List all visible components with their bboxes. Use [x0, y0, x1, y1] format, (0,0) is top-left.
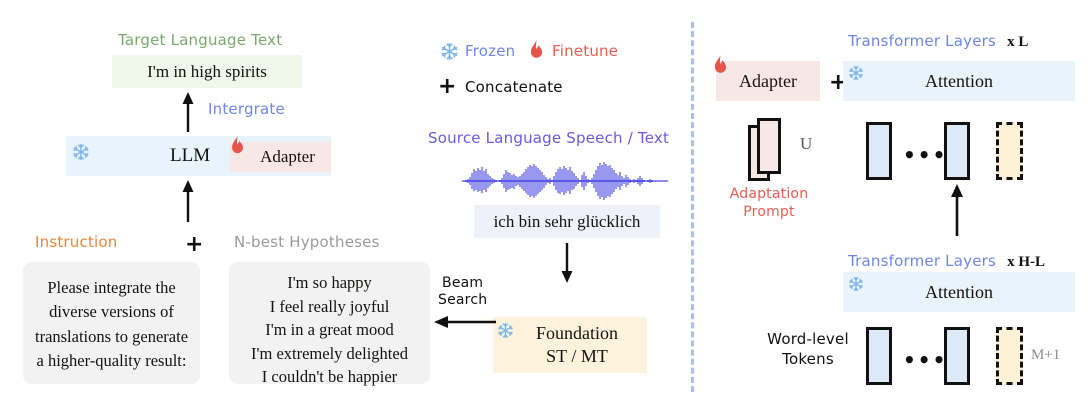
arrow-llm-to-target: [178, 92, 198, 132]
token-lower-prompt: [996, 327, 1023, 385]
target-text-box: I'm in high spirits: [112, 55, 302, 88]
instruction-line: Please integrate the: [23, 276, 200, 300]
transformer-layers-bottom-multiplier: x H-L: [1007, 254, 1045, 270]
token-lower-2: [944, 327, 970, 385]
transformer-layers-bottom-text: Transformer Layers: [848, 252, 996, 270]
token-upper-prompt: [996, 122, 1023, 180]
instruction-box: Please integrate the diverse versions of…: [23, 262, 200, 384]
legend-concatenate-label: Concatenate: [465, 78, 563, 96]
legend-frozen-label: Frozen: [465, 42, 515, 60]
snowflake-icon: [848, 65, 864, 81]
attention-label-top: Attention: [843, 61, 1075, 101]
token-lower-ellipsis: •••: [903, 350, 947, 370]
legend-finetune-label: Finetune: [552, 42, 618, 60]
word-level-tokens-label: Word-level Tokens: [758, 330, 858, 369]
instruction-label: Instruction: [35, 233, 117, 251]
speech-waveform: [462, 160, 670, 202]
legend-plus-icon: +: [438, 76, 456, 98]
token-upper-ellipsis: •••: [903, 145, 947, 165]
adapter-box-right: Adapter: [716, 61, 820, 101]
word-level-tokens-line1: Word-level: [758, 330, 858, 350]
instruction-line: diverse versions of: [23, 300, 200, 324]
attention-box-top: Attention: [843, 61, 1075, 101]
nbest-line: I'm extremely delighted: [229, 342, 430, 366]
snowflake-icon: [848, 276, 864, 292]
m-plus-one-label: M+1: [1031, 347, 1060, 364]
attention-label-bottom: Attention: [843, 272, 1075, 312]
arrow-foundation-to-nbest: [434, 312, 496, 332]
nbest-line: I couldn't be happier: [229, 365, 430, 389]
foundation-label-line2: ST / MT: [507, 345, 647, 368]
transformer-layers-top-multiplier: x L: [1007, 34, 1028, 50]
arrow-tokens-up: [947, 184, 967, 236]
instruction-line: a higher-quality result:: [23, 349, 200, 373]
panel-divider: [691, 22, 694, 392]
transformer-layers-top-label: Transformer Layers x L: [848, 31, 1028, 51]
source-text-value: ich bin sehr glücklich: [494, 212, 641, 232]
integrate-label: Intergrate: [208, 100, 285, 118]
plus-sign-left: +: [185, 234, 203, 256]
beam-search-label: Beam Search: [438, 275, 487, 309]
adaptation-prompt-label: Adaptation Prompt: [723, 186, 815, 221]
token-lower-1: [866, 327, 892, 385]
flame-icon: [712, 55, 729, 76]
transformer-layers-bottom-label: Transformer Layers x H-L: [848, 251, 1045, 271]
token-upper-2: [944, 122, 970, 180]
target-language-text-label: Target Language Text: [118, 31, 282, 49]
target-text-value: I'm in high spirits: [147, 62, 267, 82]
adaptation-prompt-line2: Prompt: [723, 204, 815, 222]
adapter-label-left: Adapter: [246, 147, 315, 167]
foundation-label-line1: Foundation: [507, 322, 647, 345]
nbest-hypotheses-box: I'm so happy I feel really joyful I'm in…: [229, 262, 430, 384]
nbest-line: I'm so happy: [229, 271, 430, 295]
snowflake-icon: [497, 322, 514, 339]
flame-icon: [528, 40, 545, 61]
adaptation-prompt-line1: Adaptation: [723, 186, 815, 204]
arrow-prompt-to-llm: [178, 180, 198, 222]
foundation-box: Foundation ST / MT: [493, 317, 647, 373]
adaptation-prompt-token-front: [757, 118, 781, 174]
snowflake-icon: [72, 143, 90, 161]
nbest-line: I'm in a great mood: [229, 318, 430, 342]
source-language-label: Source Language Speech / Text: [428, 129, 669, 147]
nbest-line: I feel really joyful: [229, 295, 430, 319]
beam-search-line2: Search: [438, 292, 487, 309]
word-level-tokens-line2: Tokens: [758, 350, 858, 370]
attention-box-bottom: Attention: [843, 272, 1075, 312]
flame-icon: [229, 136, 246, 156]
snowflake-icon: [440, 42, 459, 61]
transformer-layers-top-text: Transformer Layers: [848, 32, 996, 50]
adapter-label-right: Adapter: [716, 61, 820, 101]
token-upper-1: [866, 122, 892, 180]
instruction-line: translations to generate: [23, 325, 200, 349]
u-label: U: [800, 134, 812, 154]
arrow-source-to-foundation: [557, 243, 577, 283]
source-text-box: ich bin sehr glücklich: [474, 205, 660, 238]
nbest-hypotheses-label: N-best Hypotheses: [234, 233, 380, 251]
beam-search-line1: Beam: [438, 275, 487, 292]
llm-label: LLM: [170, 145, 210, 167]
